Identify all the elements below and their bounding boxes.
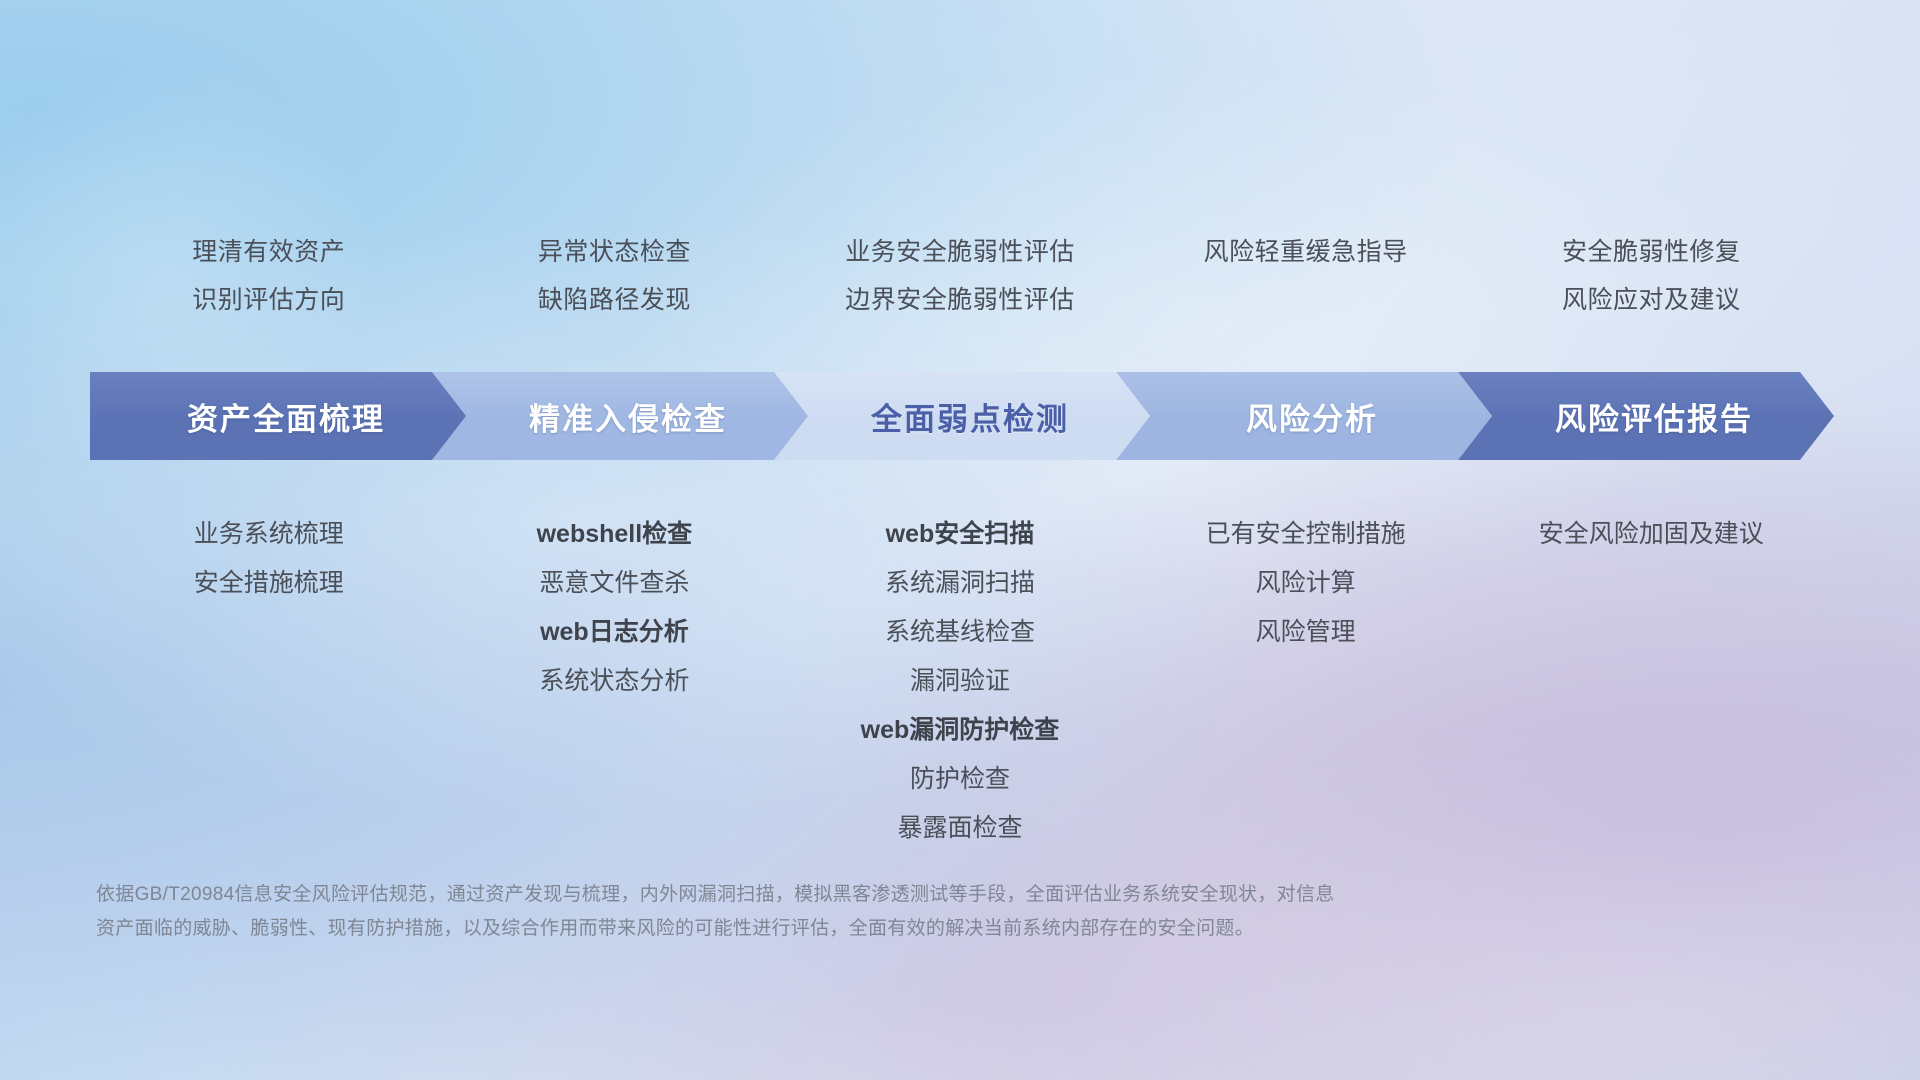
activity-item: web漏洞防护检查 [787, 706, 1133, 755]
stage-arrow-assessment-report[interactable]: 风险评估报告 [1458, 372, 1834, 460]
activity-item: 安全措施梳理 [96, 559, 442, 608]
stage-outputs-intrusion-check: 异常状态检查 缺陷路径发现 [442, 228, 788, 324]
stage-activities-weakness-detection: web安全扫描系统漏洞扫描系统基线检查漏洞验证web漏洞防护检查防护检查暴露面检… [787, 510, 1133, 853]
stage-activities-row: 业务系统梳理安全措施梳理 webshell检查恶意文件查杀web日志分析系统状态… [96, 510, 1824, 853]
stage-activities-assessment-report: 安全风险加固及建议 [1478, 510, 1824, 853]
activity-item: 系统漏洞扫描 [787, 559, 1133, 608]
activity-item: 系统基线检查 [787, 608, 1133, 657]
process-arrow-band: 资产全面梳理 精准入侵检查 全面弱点检测 风险分析 风险评估报告 [90, 372, 1834, 460]
output-label: 安全脆弱性修复 [1478, 228, 1824, 276]
output-label: 异常状态检查 [442, 228, 788, 276]
slide-content: 理清有效资产 识别评估方向 异常状态检查 缺陷路径发现 业务安全脆弱性评估 边界… [0, 0, 1920, 1080]
stage-arrow-risk-analysis[interactable]: 风险分析 [1116, 372, 1492, 460]
stage-outputs-asset-inventory: 理清有效资产 识别评估方向 [96, 228, 442, 324]
activity-item: 防护检查 [787, 755, 1133, 804]
stage-arrow-label: 全面弱点检测 [871, 394, 1069, 439]
stage-arrow-intrusion-check[interactable]: 精准入侵检查 [432, 372, 808, 460]
stage-outputs-weakness-detection: 业务安全脆弱性评估 边界安全脆弱性评估 [787, 228, 1133, 324]
stage-outputs-row: 理清有效资产 识别评估方向 异常状态检查 缺陷路径发现 业务安全脆弱性评估 边界… [96, 228, 1824, 324]
output-label: 理清有效资产 [96, 228, 442, 276]
stage-arrow-label: 风险评估报告 [1555, 394, 1753, 439]
activity-item: 风险管理 [1133, 608, 1479, 657]
stage-arrow-asset-inventory[interactable]: 资产全面梳理 [90, 372, 466, 460]
stage-outputs-assessment-report: 安全脆弱性修复 风险应对及建议 [1478, 228, 1824, 324]
footer-line: 资产面临的威胁、脆弱性、现有防护措施，以及综合作用而带来风险的可能性进行评估，全… [96, 912, 1616, 946]
stage-arrow-label: 资产全面梳理 [187, 394, 385, 439]
activity-item: 漏洞验证 [787, 657, 1133, 706]
stage-activities-asset-inventory: 业务系统梳理安全措施梳理 [96, 510, 442, 853]
activity-item: 恶意文件查杀 [442, 559, 788, 608]
activity-item: web日志分析 [442, 608, 788, 657]
output-label: 业务安全脆弱性评估 [787, 228, 1133, 276]
slide-canvas: 理清有效资产 识别评估方向 异常状态检查 缺陷路径发现 业务安全脆弱性评估 边界… [0, 0, 1920, 1080]
output-label: 缺陷路径发现 [442, 276, 788, 324]
activity-item: 暴露面检查 [787, 804, 1133, 853]
stage-arrow-label: 风险分析 [1246, 394, 1378, 439]
activity-item: 风险计算 [1133, 559, 1479, 608]
activity-item: 已有安全控制措施 [1133, 510, 1479, 559]
stage-activities-risk-analysis: 已有安全控制措施风险计算风险管理 [1133, 510, 1479, 853]
stage-arrow-weakness-detection[interactable]: 全面弱点检测 [774, 372, 1150, 460]
activity-item: 系统状态分析 [442, 657, 788, 706]
stage-activities-intrusion-check: webshell检查恶意文件查杀web日志分析系统状态分析 [442, 510, 788, 853]
footer-description: 依据GB/T20984信息安全风险评估规范，通过资产发现与梳理，内外网漏洞扫描，… [96, 878, 1616, 946]
stage-outputs-risk-analysis: 风险轻重缓急指导 [1133, 228, 1479, 324]
output-label: 边界安全脆弱性评估 [787, 276, 1133, 324]
output-label: 识别评估方向 [96, 276, 442, 324]
stage-arrow-label: 精准入侵检查 [529, 394, 727, 439]
activity-item: 安全风险加固及建议 [1478, 510, 1824, 559]
activity-item: 业务系统梳理 [96, 510, 442, 559]
output-label: 风险轻重缓急指导 [1133, 228, 1479, 276]
activity-item: web安全扫描 [787, 510, 1133, 559]
activity-item: webshell检查 [442, 510, 788, 559]
footer-line: 依据GB/T20984信息安全风险评估规范，通过资产发现与梳理，内外网漏洞扫描，… [96, 878, 1616, 912]
output-label: 风险应对及建议 [1478, 276, 1824, 324]
